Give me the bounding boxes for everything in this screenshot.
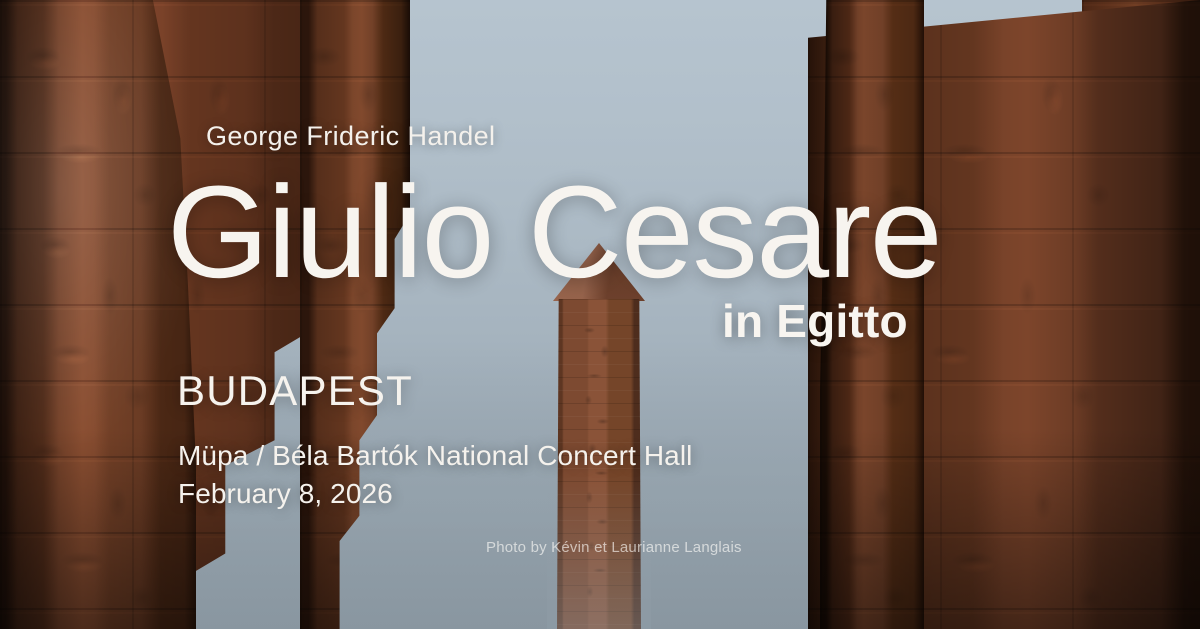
event-date: February 8, 2026	[178, 478, 393, 510]
composer-name: George Frideric Handel	[206, 121, 495, 152]
photo-credit: Photo by Kévin et Laurianne Langlais	[486, 539, 742, 556]
venue-name: Müpa / Béla Bartók National Concert Hall	[178, 440, 692, 472]
event-poster: George Frideric Handel Giulio Cesare in …	[0, 0, 1200, 629]
opera-title: Giulio Cesare	[167, 166, 941, 297]
opera-subtitle: in Egitto	[722, 294, 908, 348]
city-name: BUDAPEST	[177, 367, 413, 415]
poster-text-overlay: George Frideric Handel Giulio Cesare in …	[0, 0, 1200, 629]
